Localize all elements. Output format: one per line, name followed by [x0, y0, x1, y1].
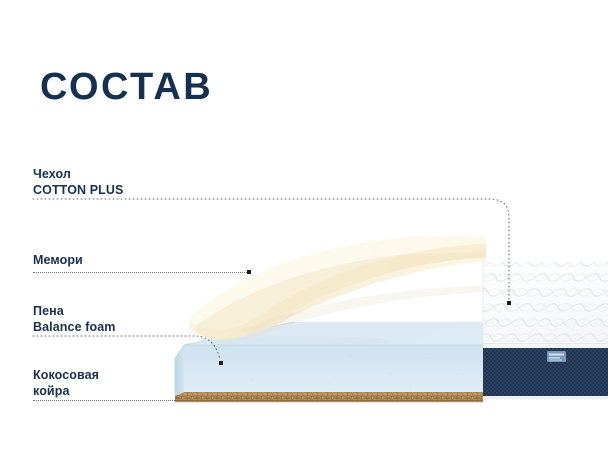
leader-endpoint-balance-foam [219, 361, 223, 365]
composition-infographic: СОСТАВ [0, 0, 608, 456]
leader-line-coir [33, 400, 175, 402]
leader-line-balance-foam [0, 0, 608, 456]
